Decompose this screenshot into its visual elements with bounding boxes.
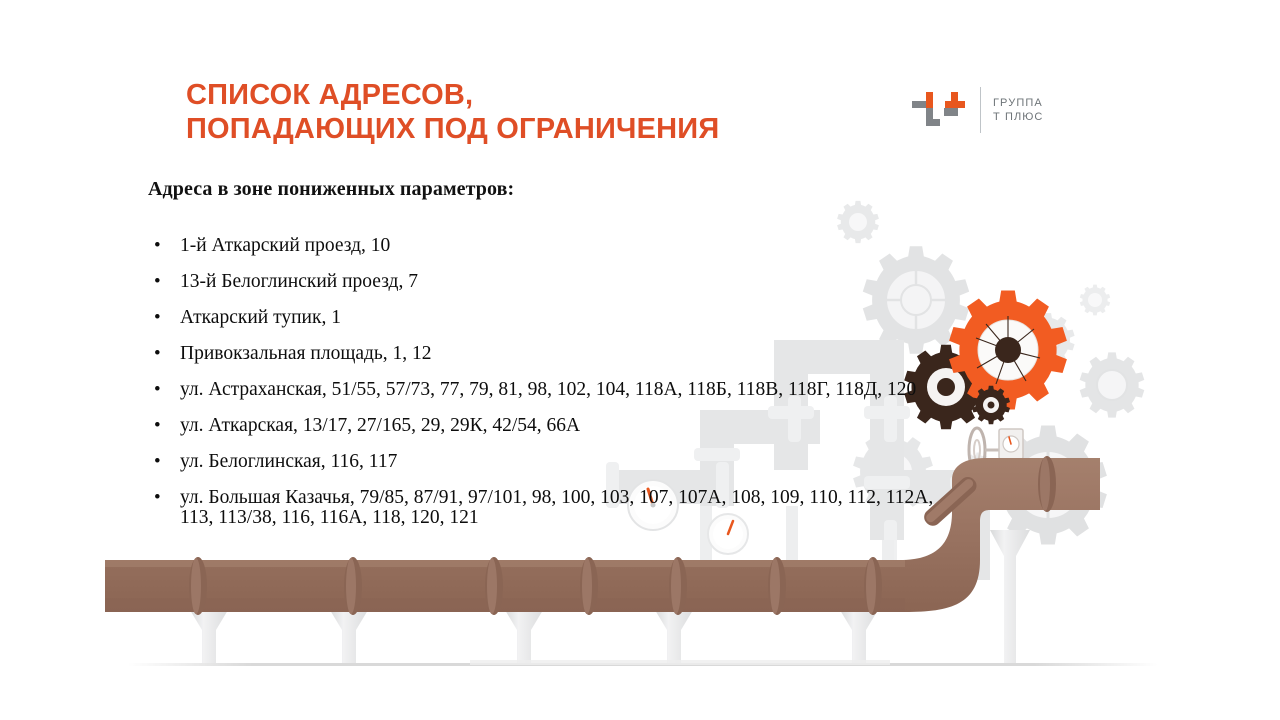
gear-orange-main xyxy=(949,290,1067,409)
bullet-glyph: • xyxy=(154,344,161,364)
bullet-glyph: • xyxy=(154,416,161,436)
list-item: • ул. Белоглинская, 116, 117 xyxy=(148,452,938,472)
bullet-glyph: • xyxy=(154,380,161,400)
ground-line xyxy=(128,663,1158,666)
list-item: • ул. Большая Казачья, 79/85, 87/91, 97/… xyxy=(148,488,938,528)
ghost-gear-medium-right xyxy=(1021,313,1074,367)
list-item: • 13-й Белоглинский проезд, 7 xyxy=(148,272,938,292)
pipe-supports xyxy=(190,530,1030,665)
bullet-glyph: • xyxy=(154,236,161,256)
section-subheading: Адреса в зоне пониженных параметров: xyxy=(148,177,514,201)
logo-wordmark: ГРУППА Т ПЛЮС xyxy=(993,96,1043,124)
gear-dark-small xyxy=(972,386,1010,424)
logo-divider xyxy=(980,87,981,133)
valve-and-gauge-assembly xyxy=(969,428,1024,476)
list-item-label: 13-й Белоглинский проезд, 7 xyxy=(180,272,938,292)
pipe-collars xyxy=(189,557,882,615)
list-item: • Аткарский тупик, 1 xyxy=(148,308,938,328)
bullet-glyph: • xyxy=(154,272,161,292)
address-list: • 1-й Аткарский проезд, 10 • 13-й Белогл… xyxy=(148,236,938,544)
ghost-gear-tiny xyxy=(965,453,992,480)
ghost-gear-right-mid xyxy=(1080,352,1145,417)
list-item: • ул. Аткарская, 13/17, 27/165, 29, 29К,… xyxy=(148,416,938,436)
t-plus-logo-mark xyxy=(908,84,970,136)
list-item-label: Привокзальная площадь, 1, 12 xyxy=(180,344,938,364)
list-item: • 1-й Аткарский проезд, 10 xyxy=(148,236,938,256)
company-logo: ГРУППА Т ПЛЮС xyxy=(908,80,1068,140)
pipe-collar-upper xyxy=(1038,456,1056,512)
bullet-glyph: • xyxy=(154,308,161,328)
page-title: СПИСОК АДРЕСОВ, ПОПАДАЮЩИХ ПОД ОГРАНИЧЕН… xyxy=(186,78,866,146)
bullet-glyph: • xyxy=(154,452,161,472)
list-item-label: 1-й Аткарский проезд, 10 xyxy=(180,236,938,256)
list-item-label: ул. Большая Казачья, 79/85, 87/91, 97/10… xyxy=(180,488,938,528)
slide-canvas: СПИСОК АДРЕСОВ, ПОПАДАЮЩИХ ПОД ОГРАНИЧЕН… xyxy=(0,0,1280,720)
ghost-gear-large-bottom xyxy=(989,425,1107,544)
list-item-label: ул. Аткарская, 13/17, 27/165, 29, 29К, 4… xyxy=(180,416,938,436)
list-item: • ул. Астраханская, 51/55, 57/73, 77, 79… xyxy=(148,380,938,400)
list-item-label: ул. Астраханская, 51/55, 57/73, 77, 79, … xyxy=(180,380,938,400)
list-item-label: Аткарский тупик, 1 xyxy=(180,308,938,328)
list-item-label: ул. Белоглинская, 116, 117 xyxy=(180,452,938,472)
bullet-glyph: • xyxy=(154,488,161,508)
list-item: • Привокзальная площадь, 1, 12 xyxy=(148,344,938,364)
ghost-gear-small-right xyxy=(1080,285,1110,316)
